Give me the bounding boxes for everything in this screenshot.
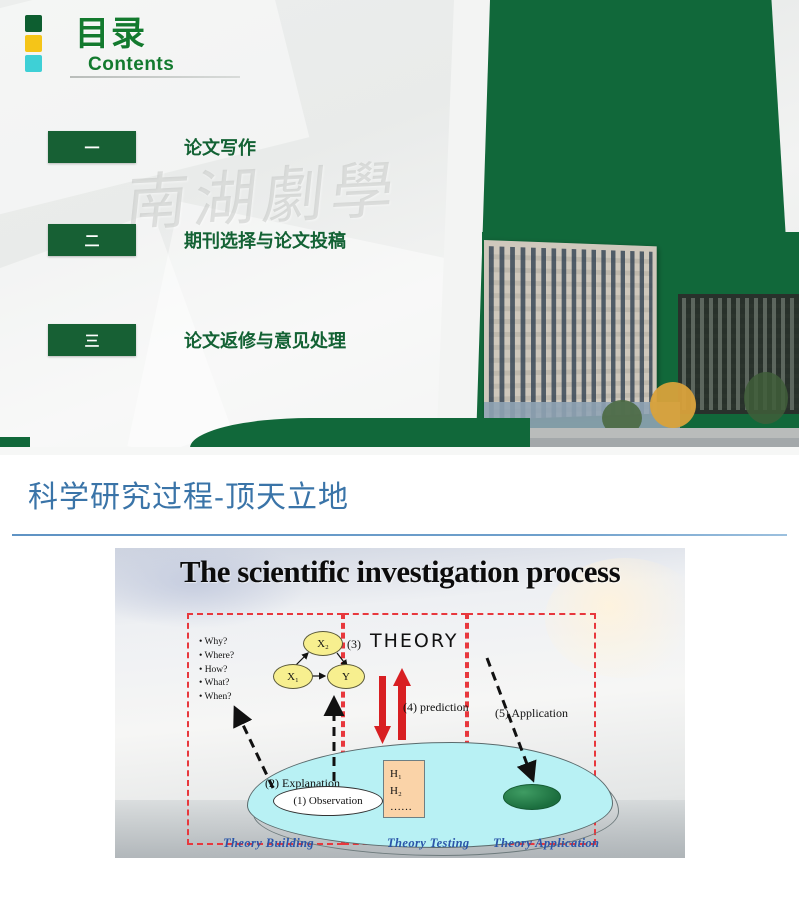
contents-item-2-label: 期刊选择与论文投稿 — [184, 227, 346, 253]
label-observation: (1) Observation — [273, 786, 383, 816]
slide-baseline — [0, 447, 799, 455]
label-theory-number: (3) — [347, 637, 361, 652]
node-x2: X₂ — [303, 631, 343, 656]
accent-square-cyan — [25, 55, 42, 72]
node-y: Y — [327, 664, 365, 689]
footer-theory-application: Theory Application — [493, 836, 599, 851]
contents-item-1-label: 论文写作 — [184, 134, 256, 160]
contents-item-3-label: 论文返修与意见处理 — [184, 327, 346, 353]
slide-page: 目录 Contents 南湖劇學 一 论文写作 二 期刊选择与论文投稿 三 论文… — [0, 0, 799, 908]
main-building-windows — [489, 246, 653, 420]
contents-heading-cn: 目录 — [75, 17, 147, 51]
tree-right — [744, 372, 788, 424]
hypothesis-more: …… — [390, 799, 424, 816]
main-building — [484, 240, 657, 420]
label-prediction: (4) prediction — [403, 700, 469, 715]
contents-heading-rule — [70, 76, 240, 78]
contents-item-2-number: 二 — [48, 224, 136, 256]
tree-autumn — [650, 382, 696, 428]
label-application: (5) Application — [495, 706, 568, 721]
footer-theory-building: Theory Building — [223, 836, 314, 851]
footer-theory-testing: Theory Testing — [387, 836, 470, 851]
contents-heading-en: Contents — [88, 54, 174, 76]
hypothesis-h2: H₂ — [390, 783, 424, 800]
section-title-rule — [12, 534, 787, 536]
contents-item-1[interactable]: 一 论文写作 — [48, 131, 256, 163]
hypothesis-box: H₁ H₂ …… — [383, 760, 425, 818]
accent-square-green — [25, 15, 42, 32]
node-x1: X₁ — [273, 664, 313, 689]
green-sweep — [190, 418, 530, 448]
contents-item-1-number: 一 — [48, 131, 136, 163]
application-marker — [503, 784, 561, 810]
scientific-investigation-diagram: The scientific investigation process • W… — [115, 548, 685, 858]
contents-item-3[interactable]: 三 论文返修与意见处理 — [48, 324, 346, 356]
contents-item-2[interactable]: 二 期刊选择与论文投稿 — [48, 224, 346, 256]
contents-slide: 目录 Contents 南湖劇學 一 论文写作 二 期刊选择与论文投稿 三 论文… — [0, 0, 799, 455]
hypothesis-h1: H₁ — [390, 766, 424, 783]
contents-item-3-number: 三 — [48, 324, 136, 356]
section-title: 科学研究过程-顶天立地 — [28, 472, 349, 516]
label-theory-word: THEORY — [370, 630, 458, 652]
accent-square-yellow — [25, 35, 42, 52]
